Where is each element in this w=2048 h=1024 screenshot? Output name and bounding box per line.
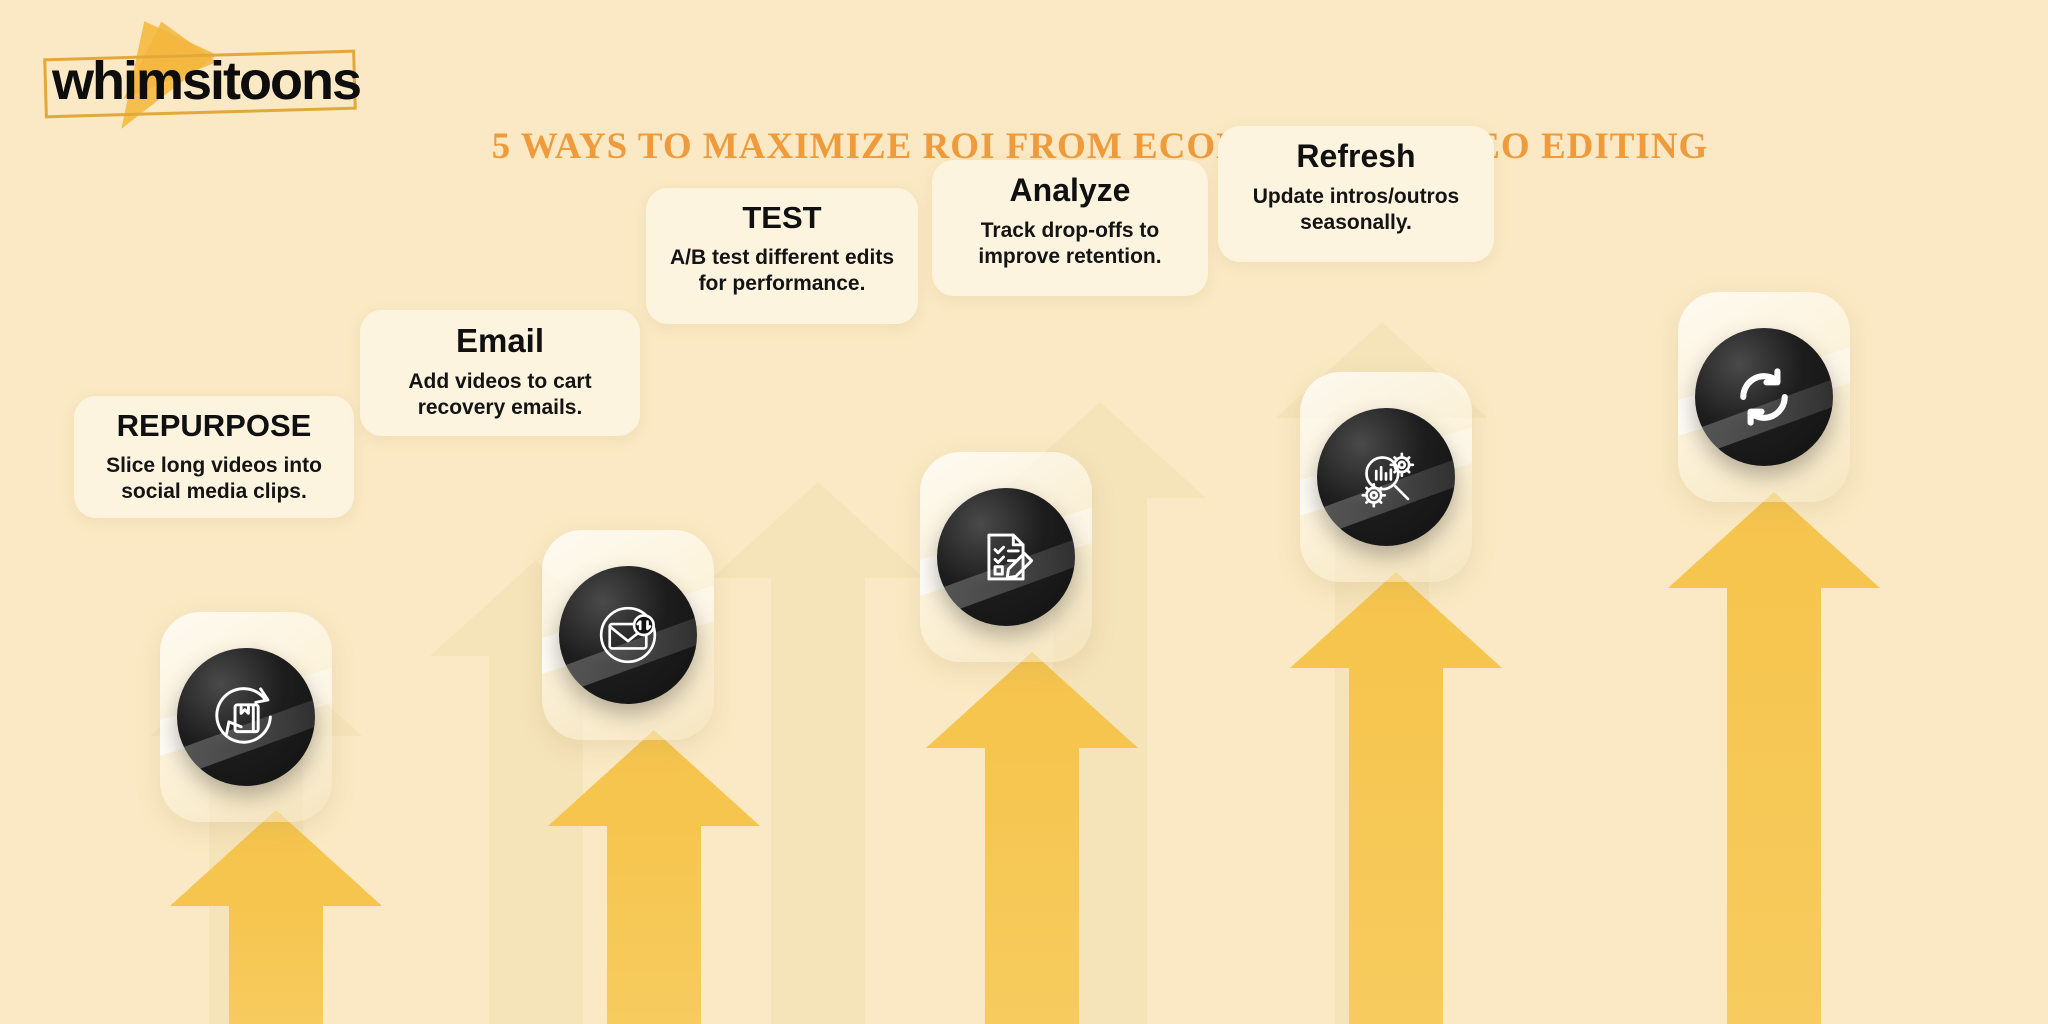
magnifier-chart-gears-icon xyxy=(1317,408,1455,546)
arrow-step-3 xyxy=(926,652,1138,1024)
icon-tile-2[interactable] xyxy=(542,530,714,740)
step-card-3[interactable]: TEST A/B test different edits for perfor… xyxy=(646,188,918,324)
icon-tile-5[interactable] xyxy=(1678,292,1850,502)
arrow-head xyxy=(712,482,924,578)
step-body-1: Slice long videos into social media clip… xyxy=(92,453,336,505)
arrow-head xyxy=(1668,492,1880,588)
step-heading-5: Refresh xyxy=(1236,140,1476,174)
brand-logo[interactable]: whimsitoons xyxy=(34,26,384,116)
arrow-shaft xyxy=(1349,666,1443,1024)
step-body-3: A/B test different edits for performance… xyxy=(664,245,900,297)
step-card-2[interactable]: Email Add videos to cart recovery emails… xyxy=(360,310,640,436)
icon-tile-3[interactable] xyxy=(920,452,1092,662)
arrow-head xyxy=(1290,572,1502,668)
arrow-shaft xyxy=(771,576,865,1024)
arrow-shaft xyxy=(985,746,1079,1024)
icon-tile-4[interactable] xyxy=(1300,372,1472,582)
step-heading-2: Email xyxy=(378,324,622,359)
step-heading-4: Analyze xyxy=(950,174,1190,208)
arrow-step-2 xyxy=(548,730,760,1024)
arrow-head xyxy=(170,810,382,906)
step-heading-1: REPURPOSE xyxy=(92,410,336,443)
brand-name: whimsitoons xyxy=(52,54,372,108)
arrow-head xyxy=(548,730,760,826)
circular-refresh-arrows-icon xyxy=(1695,328,1833,466)
step-body-5: Update intros/outros seasonally. xyxy=(1236,184,1476,236)
step-body-2: Add videos to cart recovery emails. xyxy=(378,369,622,421)
step-heading-3: TEST xyxy=(664,202,900,235)
step-card-5[interactable]: Refresh Update intros/outros seasonally. xyxy=(1218,126,1494,262)
icon-tile-1[interactable] xyxy=(160,612,332,822)
step-body-4: Track drop-offs to improve retention. xyxy=(950,218,1190,270)
step-card-1[interactable]: REPURPOSE Slice long videos into social … xyxy=(74,396,354,518)
arrow-head xyxy=(926,652,1138,748)
arrow-step-5 xyxy=(1668,492,1880,1024)
arrow-shaft xyxy=(1727,586,1821,1024)
infographic-canvas: whimsitoons 5 WAYS TO MAXIMIZE ROI FROM … xyxy=(0,0,2048,1024)
step-card-4[interactable]: Analyze Track drop-offs to improve reten… xyxy=(932,160,1208,296)
arrow-step-4 xyxy=(1290,572,1502,1024)
arrow-shaft xyxy=(607,824,701,1024)
checklist-pencil-icon xyxy=(937,488,1075,626)
email-sync-envelope-icon xyxy=(559,566,697,704)
arrow-step-1 xyxy=(170,810,382,1024)
repurpose-recycle-bag-icon xyxy=(177,648,315,786)
arrow-shaft xyxy=(229,904,323,1024)
